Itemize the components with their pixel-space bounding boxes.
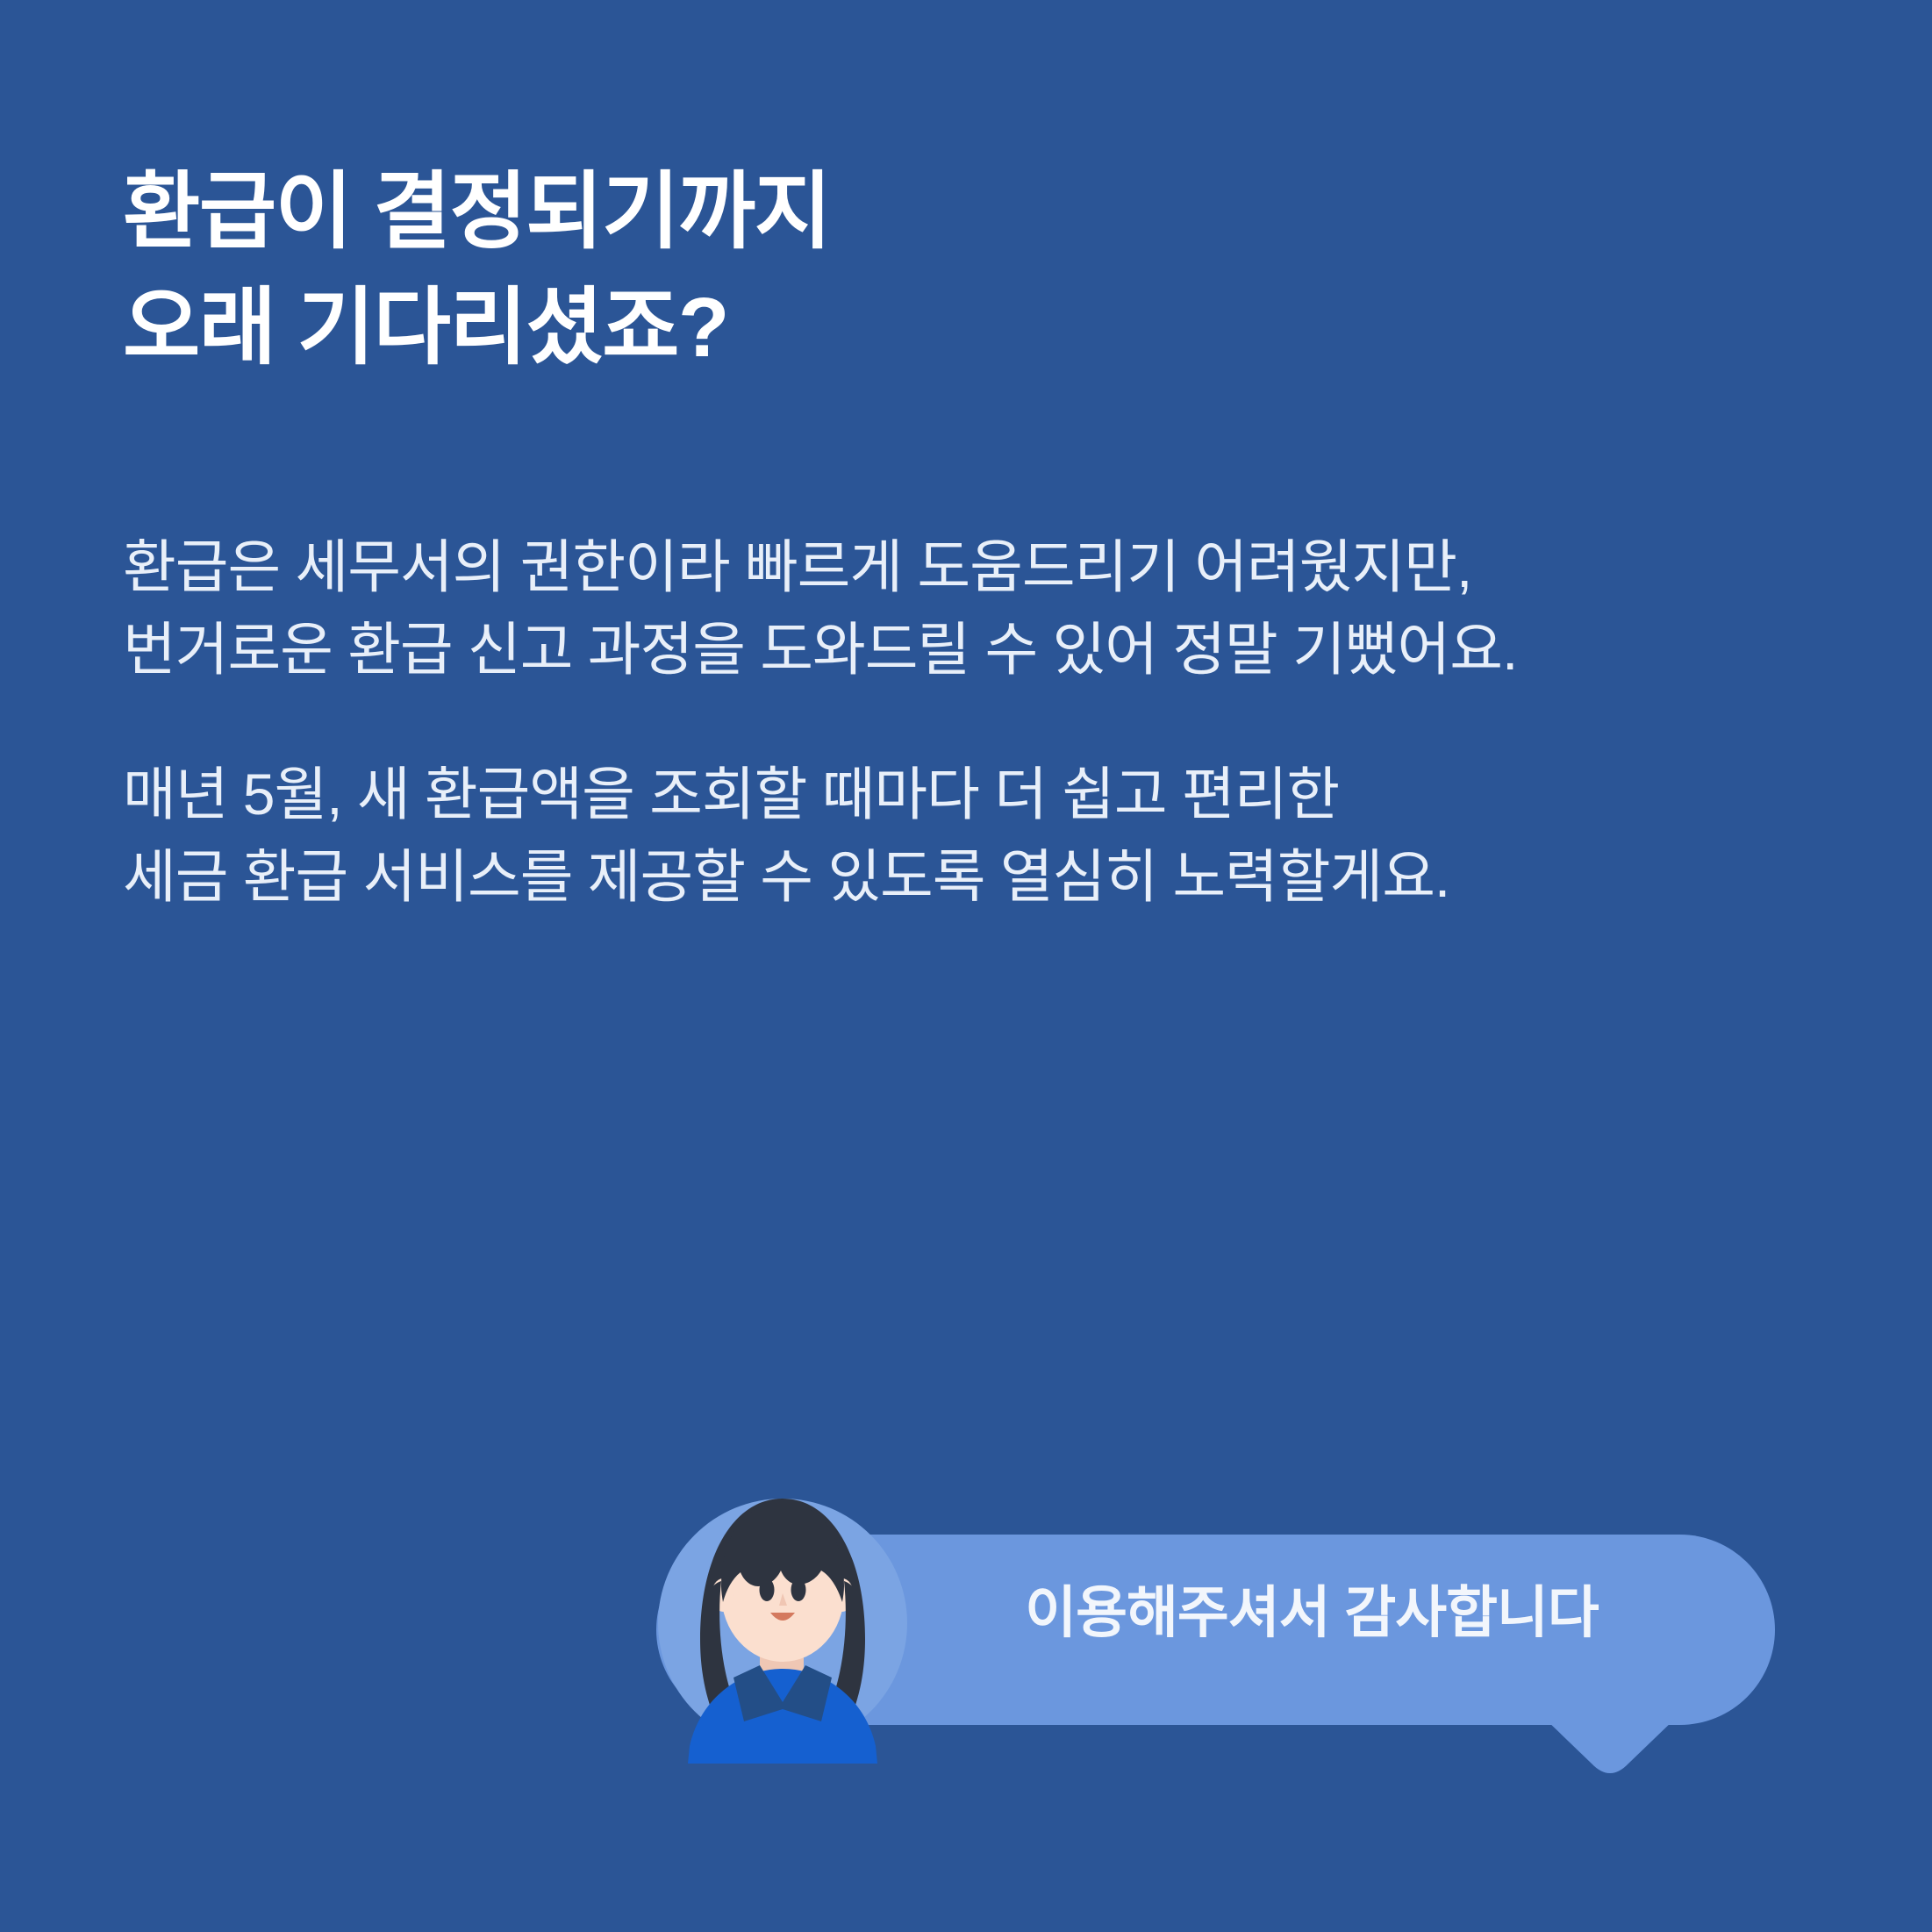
paragraph-2-line-2: 세금 환급 서비스를 제공할 수 있도록 열심히 노력할게요. — [123, 836, 1807, 919]
paragraph-2: 매년 5월, 새 환급액을 조회할 때마다 더 쉽고 편리한 세금 환급 서비스… — [123, 754, 1807, 918]
page-title: 환급이 결정되기까지 오래 기다리셨죠? — [123, 154, 1614, 387]
bubble-text: 이용해주셔서 감사합니다 — [965, 1585, 1658, 1641]
paragraph-1-line-2: 번거로운 환급 신고 과정을 도와드릴 수 있어 정말 기뻤어요. — [123, 609, 1807, 691]
paragraph-1: 환급은 세무서의 권한이라 빠르게 도움드리기 어려웠지만, 번거로운 환급 신… — [123, 526, 1807, 691]
female-avatar-icon — [649, 1483, 912, 1764]
paragraph-2-line-1: 매년 5월, 새 환급액을 조회할 때마다 더 쉽고 편리한 — [123, 754, 1807, 836]
speech-bubble-tail-icon — [1544, 1718, 1676, 1776]
paragraph-1-line-1: 환급은 세무서의 권한이라 빠르게 도움드리기 어려웠지만, — [123, 526, 1807, 609]
body-copy: 환급은 세무서의 권한이라 빠르게 도움드리기 어려웠지만, 번거로운 환급 신… — [123, 526, 1807, 919]
promo-card: 환급이 결정되기까지 오래 기다리셨죠? 환급은 세무서의 권한이라 빠르게 도… — [0, 0, 1932, 1932]
headline-line-1: 환급이 결정되기까지 — [123, 154, 1614, 270]
headline-line-2: 오래 기다리셨죠? — [123, 270, 1614, 386]
